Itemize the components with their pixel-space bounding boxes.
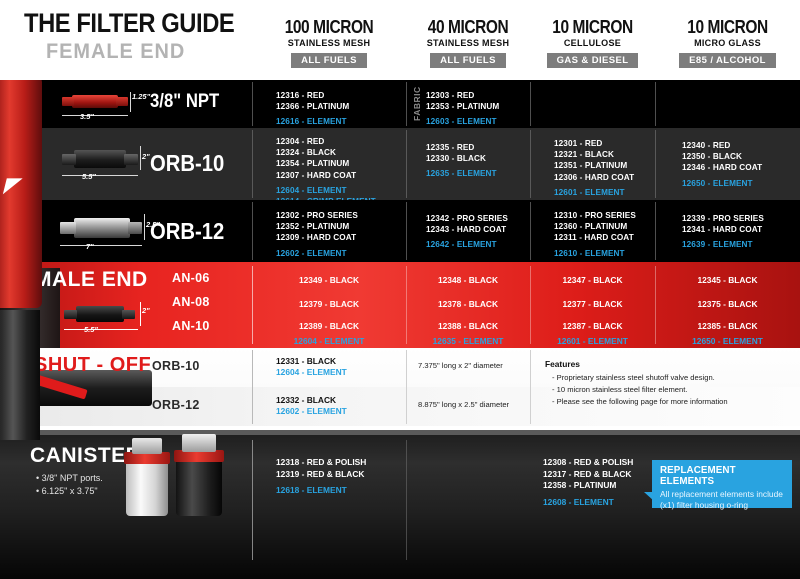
row-label-shutoff-orb12: ORB-12 (152, 398, 200, 412)
section-title-male-end: MALE END (34, 268, 148, 292)
cell-shutoff-orb10-parts: 12331 - BLACK 12604 - ELEMENT (276, 356, 347, 378)
row-label-an10: AN-10 (172, 319, 210, 333)
cell-an10-10micron-cellulose: 12387 - BLACK (530, 321, 655, 331)
cell-npt-100micron: 12316 - RED 12366 - PLATINUM 12616 - ELE… (276, 90, 349, 128)
table-body: 3.5" 1.25" 3/8" NPT 12316 - RED 12366 - … (0, 80, 800, 499)
dimension-length: 7" (86, 242, 94, 251)
cell-orb10-10micron-cellulose: 12301 - RED 12321 - BLACK 12351 - PLATIN… (554, 138, 634, 198)
filter-guide-page: THE FILTER GUIDE FEMALE END 100 MICRON S… (0, 0, 800, 499)
section-canister: CANISTER • 3/8" NPT ports. • 6.125" x 3.… (0, 430, 800, 579)
callout-body: All replacement elements include (x1) fi… (660, 489, 786, 510)
cell-orb10-10micron-microglass: 12340 - RED 12350 - BLACK 12346 - HARD C… (682, 140, 762, 189)
column-divider (252, 130, 253, 198)
fuel-badge: GAS & DIESEL (547, 53, 639, 68)
cell-male-element-10micron-cellulose: 12601 - ELEMENT (530, 336, 655, 346)
cell-an08-100micron: 12379 - BLACK (252, 299, 406, 309)
section-title-shut-off: SHUT - OFF (34, 354, 151, 377)
column-divider (655, 82, 656, 126)
column-header-10-micron-cellulose: 10 MICRON CELLULOSE GAS & DIESEL (530, 18, 655, 68)
aeromotive-logo: ◤ (4, 174, 30, 196)
cell-an10-100micron: 12389 - BLACK (252, 321, 406, 331)
dimension-length: 3.5" (80, 112, 94, 121)
row-label-npt: 3/8" NPT (150, 91, 219, 113)
cell-orb12-40micron: 12342 - PRO SERIES 12343 - HARD COAT 126… (426, 213, 508, 251)
column-divider (406, 130, 407, 198)
fuel-badge: ALL FUELS (430, 53, 506, 68)
column-divider (655, 202, 656, 260)
dimension-diameter: 1.25" (132, 92, 150, 101)
cell-male-element-40micron: 12635 - ELEMENT (406, 336, 530, 346)
feature-item: - Please see the following page for more… (552, 396, 728, 407)
left-product-artwork: ◤ (0, 60, 46, 440)
cell-orb10-40micron: 12335 - RED 12330 - BLACK 12635 - ELEMEN… (426, 142, 497, 180)
page-header: THE FILTER GUIDE FEMALE END 100 MICRON S… (0, 0, 800, 80)
feature-item: - Proprietary stainless steel shutoff va… (552, 372, 715, 383)
cell-orb12-100micron: 12302 - PRO SERIES 12352 - PLATINUM 1230… (276, 210, 358, 259)
cell-shutoff-orb12-parts: 12332 - BLACK 12602 - ELEMENT (276, 395, 347, 417)
column-divider (252, 202, 253, 260)
column-divider (530, 82, 531, 126)
cell-an06-40micron: 12348 - BLACK (406, 275, 530, 285)
cell-an06-10micron-cellulose: 12347 - BLACK (530, 275, 655, 285)
cell-canister-col3: 12308 - RED & POLISH 12317 - RED & BLACK… (543, 457, 633, 508)
canister-specs: • 3/8" NPT ports. • 6.125" x 3.75" (36, 472, 103, 497)
column-divider (406, 350, 407, 424)
cell-shutoff-orb12-dimension: 8.875" long x 2.5" diameter (418, 400, 509, 409)
feature-item: - 10 micron stainless steel filter eleme… (552, 384, 687, 395)
section-shut-off: SHUT - OFF ORB-10 ORB-12 12331 - BLACK 1… (0, 348, 800, 426)
fuel-badge: ALL FUELS (291, 53, 367, 68)
column-header-10-micron-micro-glass: 10 MICRON MICRO GLASS E85 / ALCOHOL (655, 18, 800, 68)
cell-an08-10micron-cellulose: 12377 - BLACK (530, 299, 655, 309)
cell-an06-100micron: 12349 - BLACK (252, 275, 406, 285)
black-fitting-body (0, 310, 40, 440)
callout-title: REPLACEMENT ELEMENTS (660, 465, 786, 487)
cell-shutoff-orb10-dimension: 7.375" long x 2" diameter (418, 361, 503, 370)
table-row-npt: 3.5" 1.25" 3/8" NPT 12316 - RED 12366 - … (0, 80, 800, 128)
section-male-end: MALE END 5.5" 2" AN-06 AN-08 AN-10 12349… (0, 262, 800, 348)
cell-orb12-10micron-microglass: 12339 - PRO SERIES 12341 - HARD COAT 126… (682, 213, 764, 251)
row-label-an06: AN-06 (172, 271, 210, 285)
cell-npt-40micron: 12303 - RED 12353 - PLATINUM 12603 - ELE… (426, 90, 499, 128)
dimension-length: 5.5" (84, 325, 98, 334)
column-divider (406, 440, 407, 560)
cell-orb10-100micron: 12304 - RED 12324 - BLACK 12354 - PLATIN… (276, 136, 376, 207)
cell-an10-10micron-microglass: 12385 - BLACK (655, 321, 800, 331)
dimension-diameter: 2" (142, 306, 150, 315)
fuel-badge: E85 / ALCOHOL (679, 53, 776, 68)
dimension-length: 5.5" (82, 172, 96, 181)
product-image-canister-polish (126, 456, 168, 516)
replacement-elements-callout: REPLACEMENT ELEMENTS All replacement ele… (652, 460, 792, 508)
product-image-canister-black (176, 454, 222, 516)
dimension-diameter: 2" (142, 152, 150, 161)
cell-orb12-10micron-cellulose: 12310 - PRO SERIES 12360 - PLATINUM 1231… (554, 210, 636, 259)
row-label-orb12: ORB-12 (150, 218, 224, 245)
section-title-female-end: FEMALE END (46, 40, 185, 64)
column-divider (252, 350, 253, 424)
cell-an08-10micron-microglass: 12375 - BLACK (655, 299, 800, 309)
column-divider (655, 130, 656, 198)
features-heading: Features (545, 359, 580, 369)
column-header-100-micron: 100 MICRON STAINLESS MESH ALL FUELS (252, 18, 406, 68)
column-divider (530, 350, 531, 424)
column-divider (406, 202, 407, 260)
table-row-orb10: 5.5" 2" ORB-10 12304 - RED 12324 - BLACK… (0, 128, 800, 200)
cell-an10-40micron: 12388 - BLACK (406, 321, 530, 331)
row-label-an08: AN-08 (172, 295, 210, 309)
page-title: THE FILTER GUIDE (24, 8, 234, 39)
fabric-tag: FABRIC (412, 88, 422, 121)
column-divider (530, 202, 531, 260)
table-row-orb12: 7" 2.5" ORB-12 12302 - PRO SERIES 12352 … (0, 200, 800, 262)
cell-male-element-100micron: 12604 - ELEMENT (252, 336, 406, 346)
cell-an06-10micron-microglass: 12345 - BLACK (655, 275, 800, 285)
column-divider (530, 130, 531, 198)
column-header-40-micron: 40 MICRON STAINLESS MESH ALL FUELS (406, 18, 530, 68)
column-divider (406, 82, 407, 126)
column-divider (252, 82, 253, 126)
cell-an08-40micron: 12378 - BLACK (406, 299, 530, 309)
column-divider (252, 440, 253, 560)
cell-canister-col1: 12318 - RED & POLISH 12319 - RED & BLACK… (276, 457, 366, 497)
cell-male-element-10micron-microglass: 12650 - ELEMENT (655, 336, 800, 346)
row-label-orb10: ORB-10 (150, 150, 224, 177)
row-label-shutoff-orb10: ORB-10 (152, 359, 200, 373)
